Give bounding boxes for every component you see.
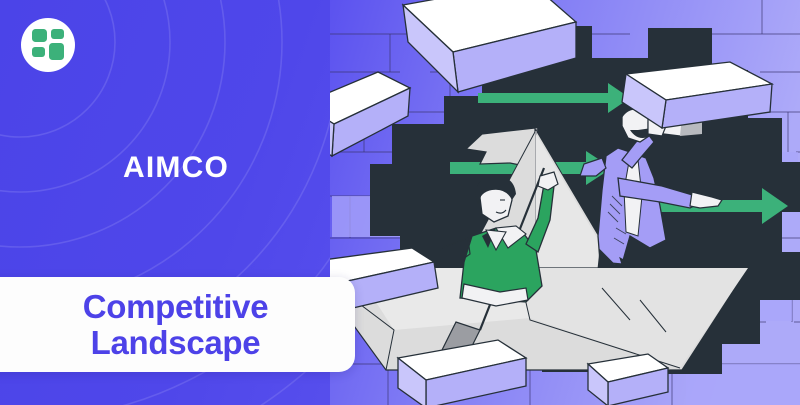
logo[interactable] — [21, 18, 75, 72]
title-card: Competitive Landscape — [0, 277, 355, 372]
illustration — [330, 0, 800, 405]
page-title-line-2: Landscape — [83, 325, 269, 361]
grid-squares-logo-icon — [31, 28, 65, 62]
banner-canvas: AIMCO Competitive Landscape — [0, 0, 800, 405]
brand-name: AIMCO — [0, 151, 352, 185]
page-title-line-1: Competitive — [83, 289, 269, 325]
title-card-inner: Competitive Landscape — [57, 289, 269, 360]
